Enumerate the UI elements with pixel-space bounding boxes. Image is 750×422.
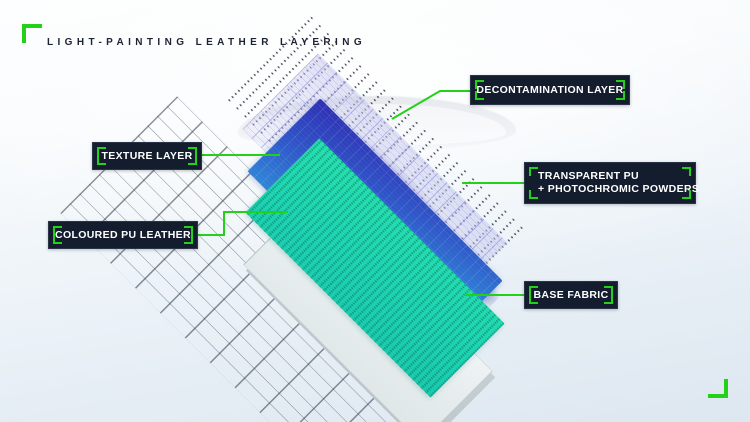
leader-line-decontamination [392, 91, 470, 119]
callout-transparent-pu-label-line2: + PHOTOCHROMIC POWDERS [538, 183, 695, 196]
callout-texture-layer[interactable]: TEXTURE LAYER [92, 142, 202, 170]
callout-base-fabric-label: BASE FABRIC [533, 289, 608, 302]
callout-texture-label: TEXTURE LAYER [101, 150, 192, 163]
diagram-canvas: LIGHT-PAINTING LEATHER LAYERING [0, 0, 750, 422]
corner-bracket-top-left-icon [22, 24, 42, 43]
page-title: LIGHT-PAINTING LEATHER LAYERING [47, 37, 366, 48]
leader-lines [0, 0, 750, 422]
callout-coloured-pu-leather[interactable]: COLOURED PU LEATHER [48, 221, 198, 249]
callout-coloured-pu-label: COLOURED PU LEATHER [55, 229, 191, 242]
callout-decontamination-label: DECONTAMINATION LAYER [476, 84, 623, 97]
corner-bracket-bottom-right-icon [708, 379, 728, 398]
callout-transparent-pu[interactable]: TRANSPARENT PU + PHOTOCHROMIC POWDERS [524, 162, 696, 204]
leader-line-coloured-pu [198, 212, 288, 235]
callout-decontamination-layer[interactable]: DECONTAMINATION LAYER [470, 75, 630, 105]
callout-transparent-pu-label-line1: TRANSPARENT PU [538, 170, 695, 183]
callout-base-fabric[interactable]: BASE FABRIC [524, 281, 618, 309]
